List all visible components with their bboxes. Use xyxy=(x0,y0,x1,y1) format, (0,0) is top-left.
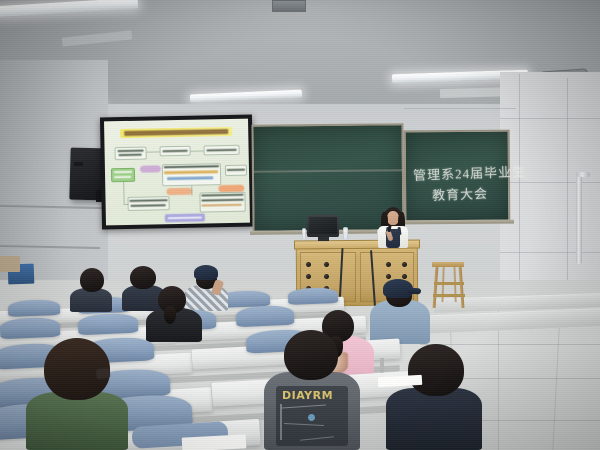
podium-hole-8 xyxy=(386,262,391,267)
slide-pill-orange-1 xyxy=(166,188,192,195)
student-mid-right-cap-brim xyxy=(408,288,421,295)
student-front-left-glasses xyxy=(95,367,110,379)
chair-r5-1[interactable] xyxy=(8,299,61,317)
slide-connector-3 xyxy=(191,186,192,196)
student-back-left-navy-head xyxy=(80,268,104,292)
student-mid-left-black-ponytail xyxy=(164,306,176,324)
slide-box-right-text xyxy=(227,169,245,171)
wall-tile-line-2 xyxy=(567,78,568,304)
projection-screen-surface xyxy=(104,119,250,226)
slide-arrow-1 xyxy=(147,151,160,152)
wall-tile-line-4 xyxy=(500,182,600,183)
slide-arrow-2 xyxy=(191,150,204,151)
wall-pipe-elbow xyxy=(576,172,590,177)
podium-hole-5 xyxy=(324,262,329,267)
speaker-port xyxy=(74,162,83,166)
paper-on-front-desk xyxy=(182,434,247,450)
student-grey-tee-print-text: DIAYRM xyxy=(282,389,333,402)
wall-pipe xyxy=(576,176,582,264)
student-back-right-cap xyxy=(194,265,218,280)
wall-tile-line-5 xyxy=(500,252,600,253)
slide-pill-purple xyxy=(140,165,161,172)
wall-tile-line-1 xyxy=(519,74,520,304)
slide-box-green-text xyxy=(114,171,132,173)
chair-r4-1[interactable] xyxy=(0,317,60,339)
chair-r4-2[interactable] xyxy=(78,313,139,335)
podium-hole-2 xyxy=(306,274,311,279)
podium-hole-11 xyxy=(402,274,407,279)
slide-connector-2 xyxy=(124,204,129,205)
wall-tile-line-3 xyxy=(500,118,600,119)
podium-hole-9 xyxy=(386,274,391,279)
podium-hole-1 xyxy=(306,262,311,267)
box-stack-left xyxy=(0,256,20,272)
chair-r4-4[interactable] xyxy=(236,305,295,327)
chalkboard-right-rail xyxy=(402,220,514,225)
wall-tile-line-6 xyxy=(404,108,516,109)
student-front-right-navy-head xyxy=(408,344,464,396)
student-front-left-green-body xyxy=(26,392,128,450)
stool-rung-upper xyxy=(434,282,464,285)
slide-box-green-text-2 xyxy=(114,176,131,178)
monitor-screen xyxy=(309,217,337,234)
floor-tile-v-1 xyxy=(498,310,499,450)
chalkboard-line-1: 管理系24届毕业生 xyxy=(413,161,527,184)
chair-r5-5[interactable] xyxy=(288,287,339,305)
sanitizer-bottle-left xyxy=(302,228,306,240)
slide-connector-1 xyxy=(123,182,124,204)
student-back-center-dark-head xyxy=(130,266,156,289)
chalkboard-line-2: 教育大会 xyxy=(432,183,489,204)
floor-tile-h-2 xyxy=(420,344,600,345)
podium-hole-6 xyxy=(324,274,329,279)
tee-print-badge xyxy=(308,414,315,421)
student-front-right-navy-body xyxy=(386,388,482,450)
classroom-photo: 管理系24届毕业生 教育大会 xyxy=(0,0,600,450)
student-front-center-grey-head xyxy=(284,330,338,380)
podium-hole-10 xyxy=(402,262,407,267)
sanitizer-bottle-center xyxy=(343,227,348,240)
tee-print-line-1 xyxy=(280,404,282,440)
ceiling-vent xyxy=(272,0,306,12)
stool-rung-lower xyxy=(433,294,465,297)
